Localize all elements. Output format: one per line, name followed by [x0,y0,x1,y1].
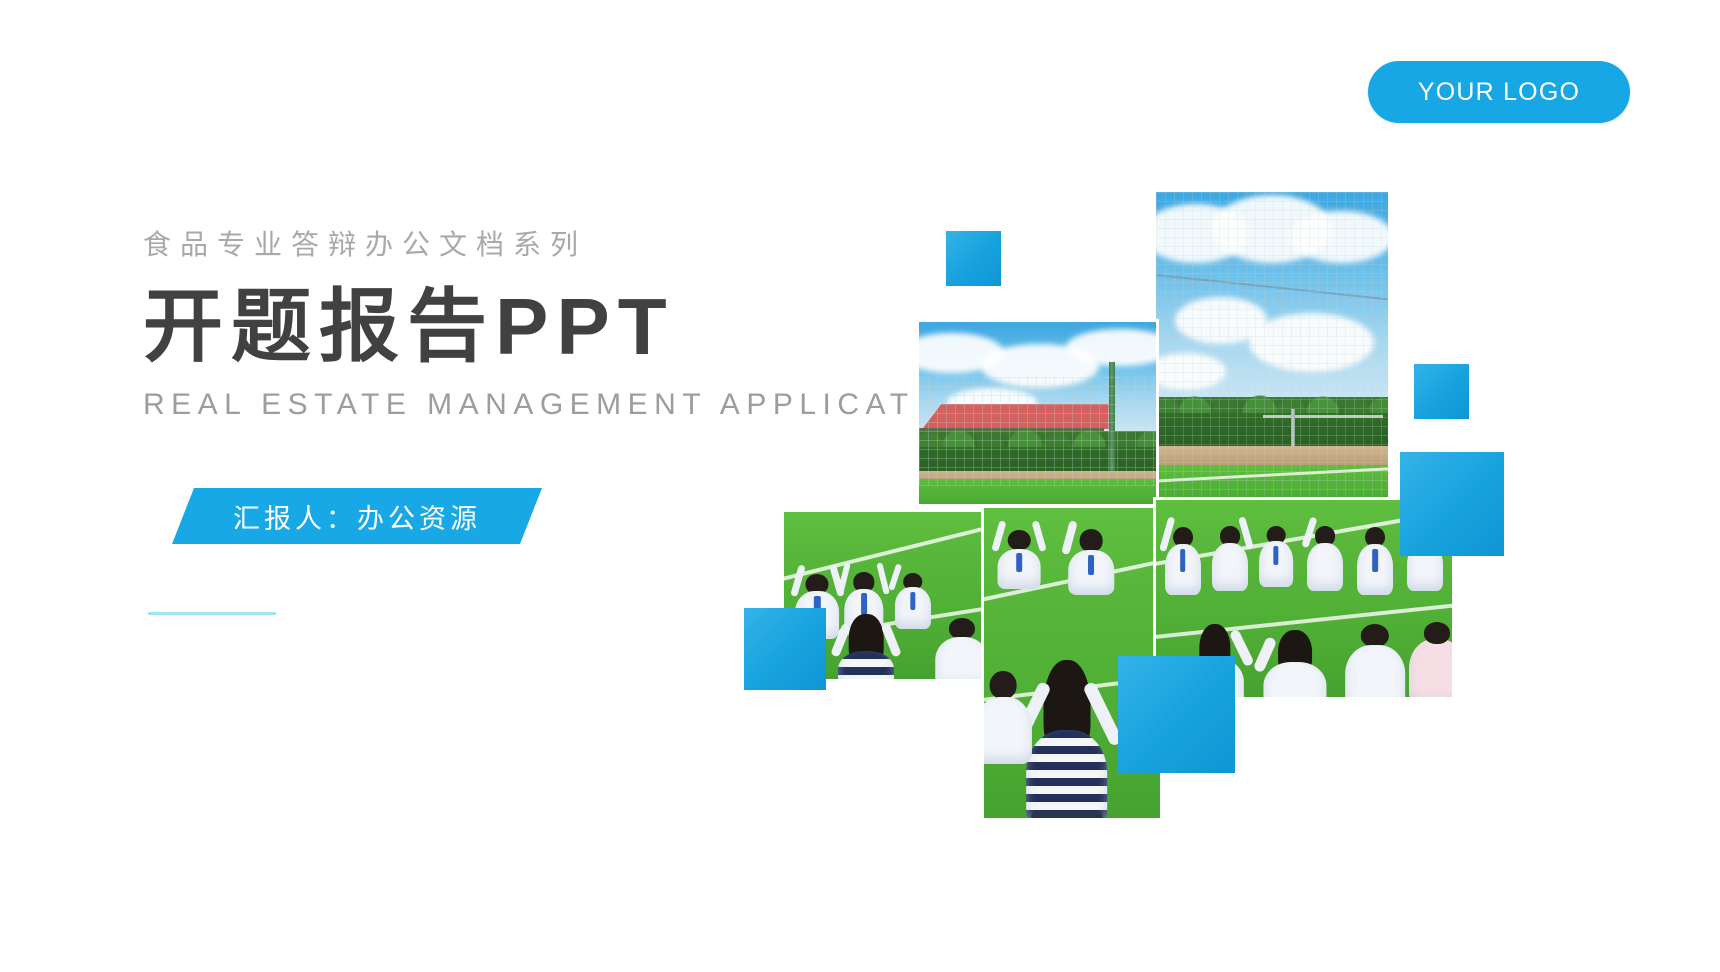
accent-square-right-lower [1400,452,1504,556]
accent-square-top [946,231,1001,286]
photo-collage [0,0,1720,972]
photo-top-right-sky [1156,192,1388,502]
photo-left-building [919,322,1156,504]
accent-square-bottom-left [744,608,826,690]
accent-square-bottom-center [1118,656,1235,773]
accent-square-right-upper [1414,364,1469,419]
presentation-slide: YOUR LOGO 食品专业答辩办公文档系列 开题报告PPT REAL ESTA… [0,0,1720,972]
